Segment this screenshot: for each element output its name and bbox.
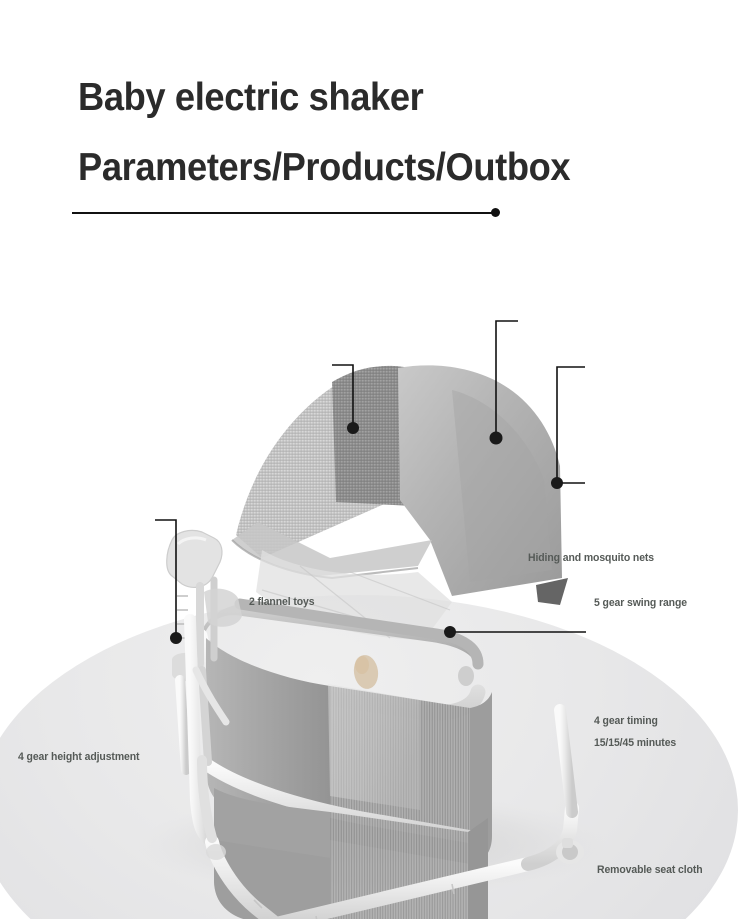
callout-label-height-adjustment: 4 gear height adjustment	[18, 752, 139, 764]
flannel-toy-secondary	[355, 656, 369, 674]
title-divider-dot	[491, 208, 500, 217]
leg-right	[560, 710, 572, 812]
seat-cloth-panel	[328, 684, 420, 810]
canopy-tip	[536, 578, 568, 605]
callout-label-flannel-toys: 2 flannel toys	[249, 597, 314, 609]
page-title-line-1: Baby electric shaker	[78, 78, 423, 117]
canopy-assembly	[232, 365, 568, 690]
product-image-stage: 2 flannel toys Hiding and mosquito nets …	[0, 240, 750, 919]
callout-label-gear-timing: 4 gear timing	[594, 716, 658, 728]
callout-label-swing-range: 5 gear swing range	[594, 598, 687, 610]
page-header: Baby electric shaker Parameters/Products…	[0, 0, 750, 240]
callout-label-removable-seat-cloth: Removable seat cloth	[597, 865, 703, 877]
product-illustration	[0, 240, 750, 919]
title-divider-rule	[72, 212, 492, 214]
callout-label-gear-timing-detail: 15/15/45 minutes	[594, 738, 676, 750]
motor-housing	[204, 589, 242, 627]
callout-label-mosquito-nets: Hiding and mosquito nets	[528, 553, 654, 565]
product-infographic-page: Baby electric shaker Parameters/Products…	[0, 0, 750, 919]
page-title-line-2: Parameters/Products/Outbox	[78, 148, 570, 187]
caster-rear-left	[206, 844, 226, 860]
